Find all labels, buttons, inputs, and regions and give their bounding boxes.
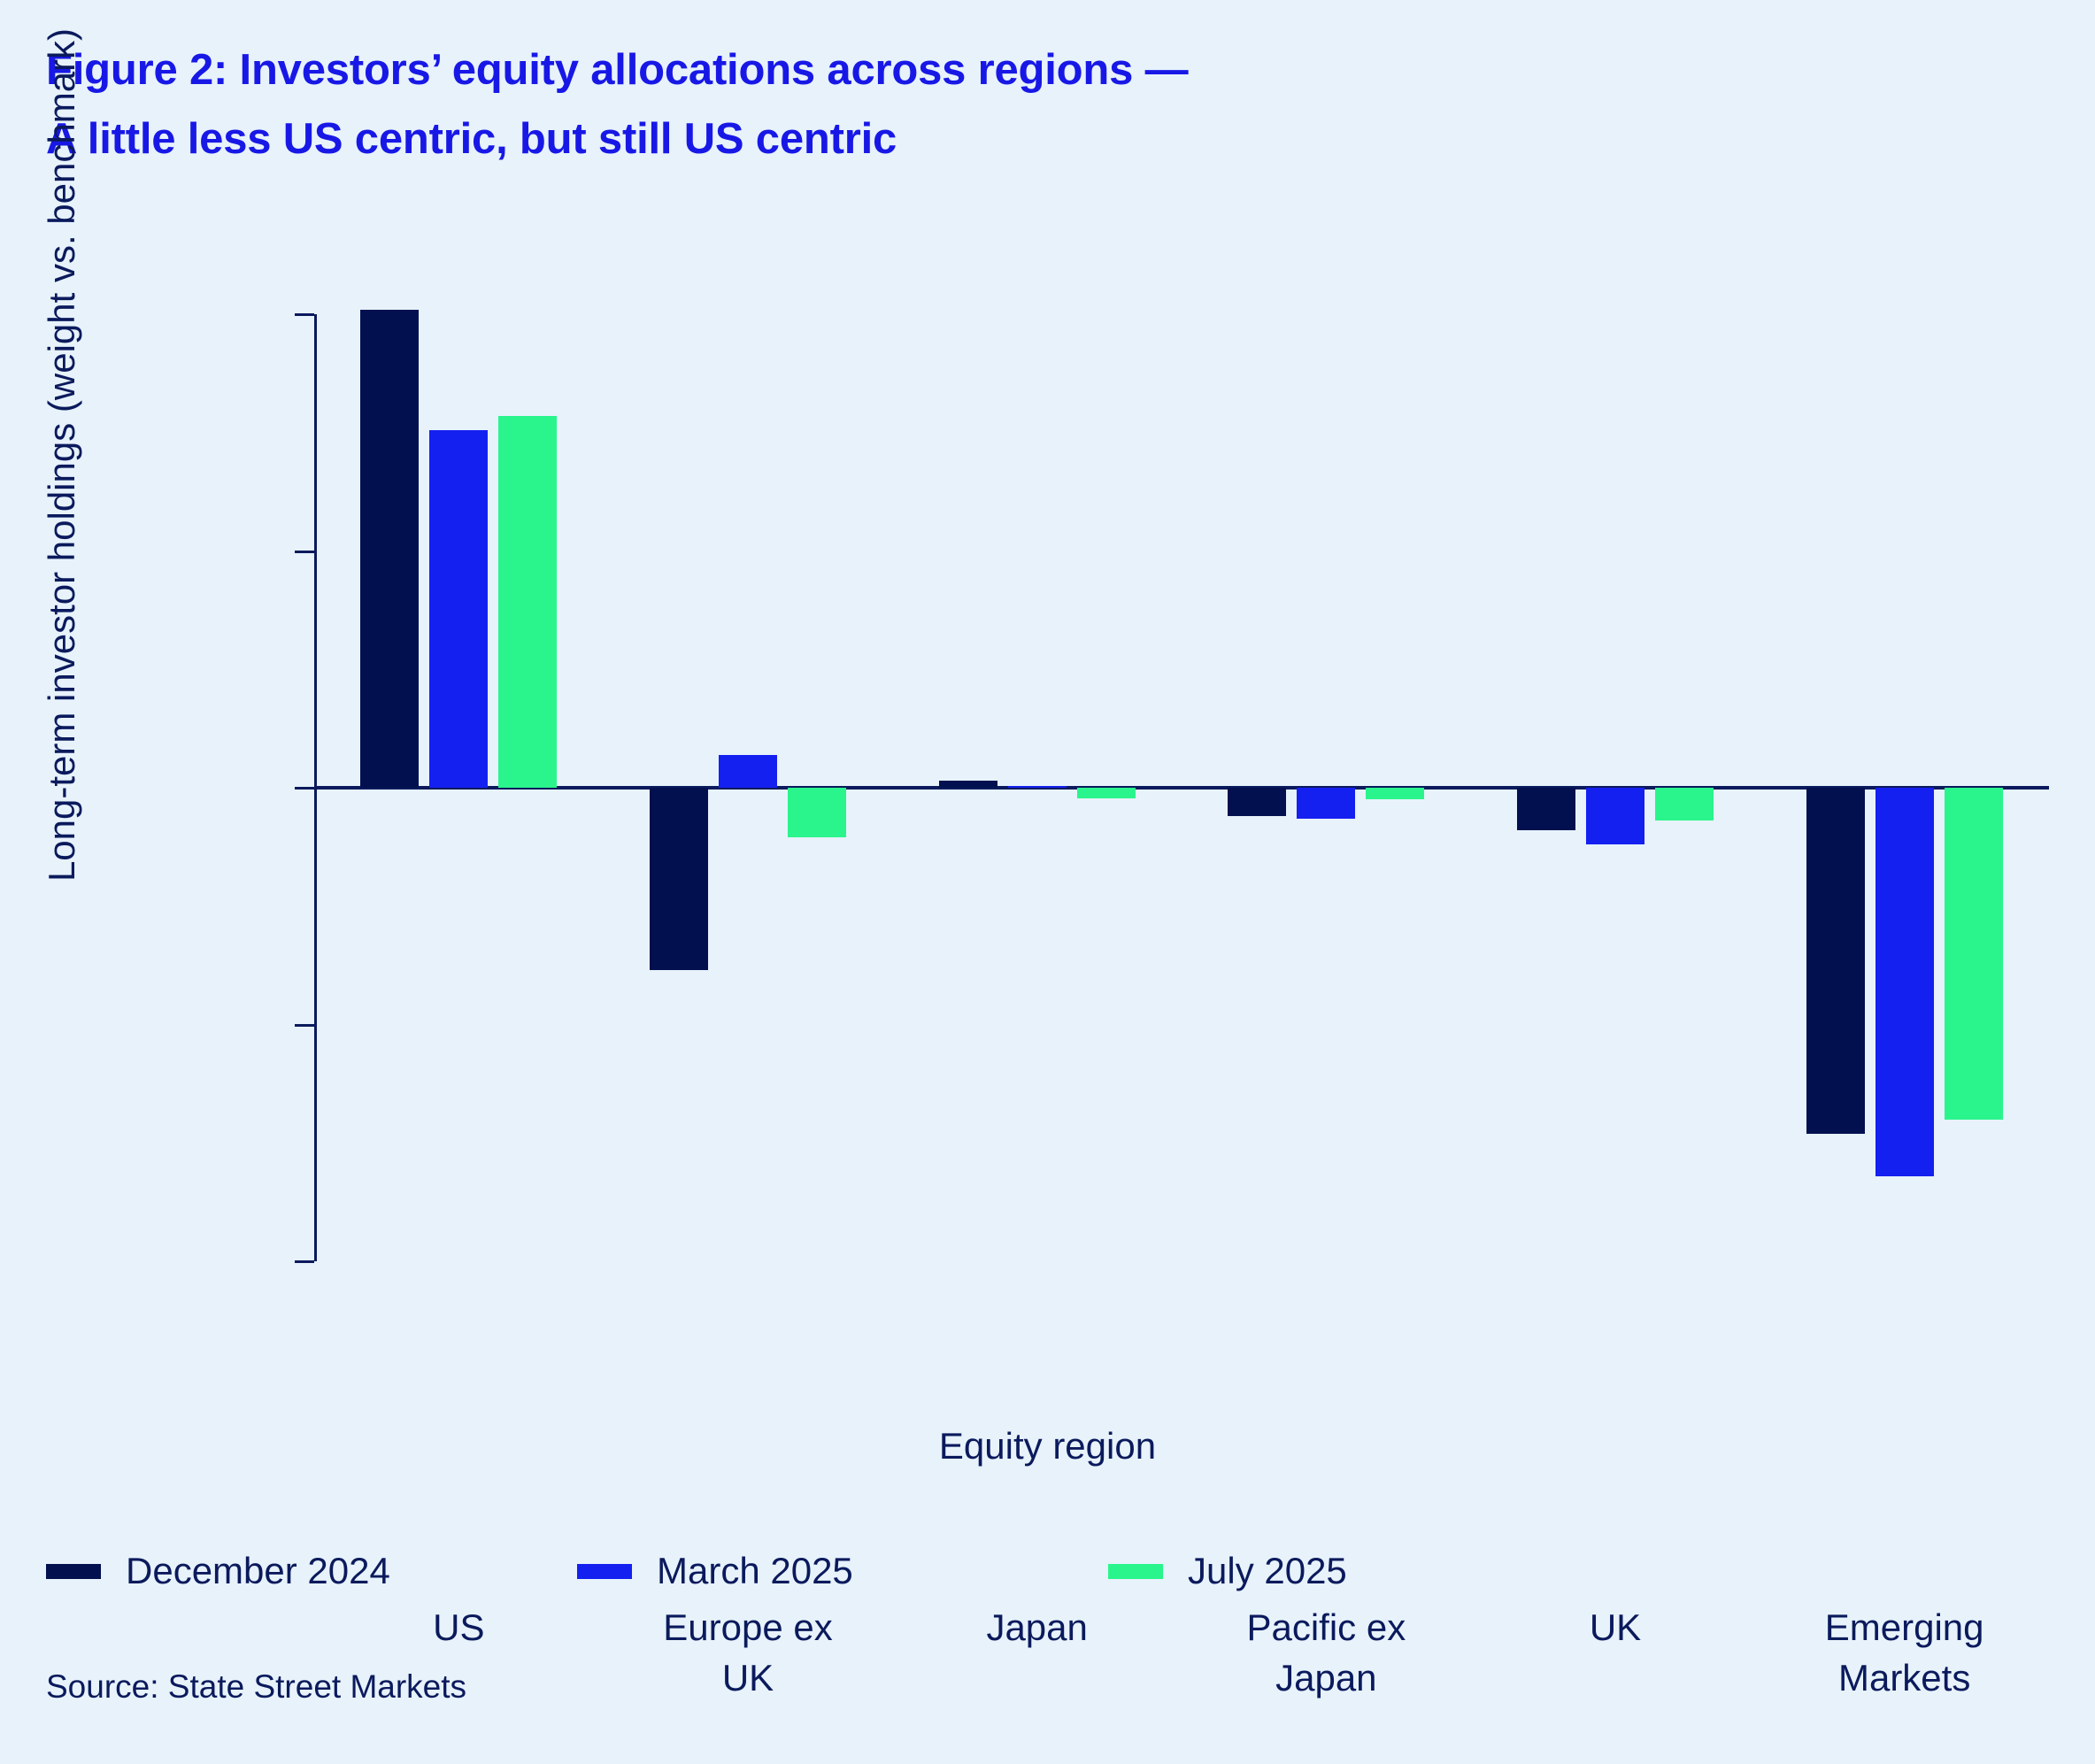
bar bbox=[1077, 788, 1136, 798]
x-axis-category-label: UK bbox=[1590, 1602, 1641, 1652]
bar bbox=[1517, 788, 1575, 830]
figure-title-line-2: A little less US centric, but still US c… bbox=[46, 104, 1816, 173]
bar bbox=[1875, 788, 1934, 1176]
legend-item[interactable]: July 2025 bbox=[1108, 1544, 1347, 1598]
legend-label: July 2025 bbox=[1188, 1550, 1347, 1592]
legend-label: December 2024 bbox=[126, 1550, 390, 1592]
bar bbox=[360, 310, 419, 788]
plot-area: 1.00%0.50%0.00%-0.50%-1.00% USEurope ex … bbox=[314, 314, 2049, 1261]
x-axis-title: Equity region bbox=[0, 1425, 2095, 1467]
x-axis-category-label: Japan bbox=[986, 1602, 1087, 1652]
bar bbox=[1297, 788, 1355, 819]
legend-swatch-icon bbox=[577, 1564, 632, 1579]
bar bbox=[1806, 788, 1865, 1134]
x-axis-category-label: Emerging Markets bbox=[1825, 1602, 1984, 1703]
bar bbox=[1586, 788, 1644, 844]
y-tick-mark bbox=[295, 787, 314, 790]
legend-swatch-icon bbox=[1108, 1564, 1163, 1579]
bar bbox=[1228, 788, 1286, 816]
bar bbox=[719, 755, 777, 788]
legend-item[interactable]: December 2024 bbox=[46, 1544, 390, 1598]
x-axis-category-label: Europe ex UK bbox=[663, 1602, 832, 1703]
y-tick-mark bbox=[295, 1260, 314, 1263]
legend-item[interactable]: March 2025 bbox=[577, 1544, 853, 1598]
bar bbox=[1945, 788, 2003, 1120]
y-tick-mark bbox=[295, 551, 314, 553]
legend: December 2024March 2025July 2025 bbox=[46, 1544, 1905, 1598]
y-axis-title-wrapper: Long-term investor holdings (weight vs. … bbox=[41, 12, 83, 897]
bar bbox=[1655, 788, 1714, 820]
bar bbox=[1008, 786, 1067, 788]
bar bbox=[498, 416, 557, 788]
x-axis-category-label: US bbox=[433, 1602, 484, 1652]
bar bbox=[788, 788, 846, 837]
x-axis-category-label: Pacific ex Japan bbox=[1246, 1602, 1406, 1703]
bar bbox=[1366, 788, 1424, 799]
figure-title: Figure 2: Investors’ equity allocations … bbox=[46, 35, 1816, 173]
bar bbox=[650, 788, 708, 970]
legend-swatch-icon bbox=[46, 1564, 101, 1579]
y-tick-mark bbox=[295, 1024, 314, 1027]
bar bbox=[429, 430, 488, 788]
legend-label: March 2025 bbox=[657, 1550, 853, 1592]
figure-container: Figure 2: Investors’ equity allocations … bbox=[0, 0, 2095, 1764]
figure-title-line-1: Figure 2: Investors’ equity allocations … bbox=[46, 35, 1816, 104]
y-axis-title: Long-term investor holdings (weight vs. … bbox=[41, 28, 82, 882]
bar bbox=[939, 781, 997, 788]
y-tick-mark bbox=[295, 313, 314, 316]
zero-baseline bbox=[314, 786, 2049, 790]
source-note: Source: State Street Markets bbox=[46, 1668, 466, 1706]
